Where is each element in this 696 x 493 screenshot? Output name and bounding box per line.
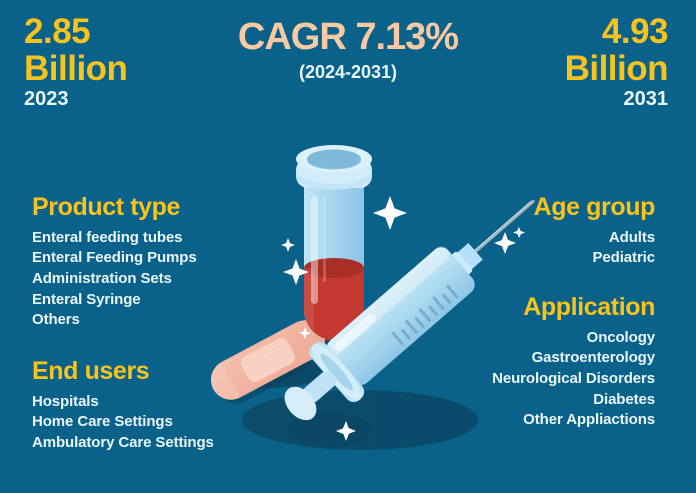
list-item: Pediatric — [534, 248, 655, 269]
infographic-root: 2.85 Billion 2023 4.93 Billion 2031 CAGR… — [0, 0, 696, 493]
list-item: Home Care Settings — [32, 412, 214, 433]
sparkle-icons — [281, 196, 525, 441]
cagr-period: (2024-2031) — [0, 62, 696, 83]
cagr-value: CAGR 7.13% — [0, 18, 696, 58]
application-list: Oncology Gastroenterology Neurological D… — [492, 328, 655, 431]
list-item: Enteral Feeding Pumps — [32, 248, 197, 269]
list-item: Administration Sets — [32, 269, 197, 290]
list-item: Oncology — [492, 328, 655, 349]
list-item: Diabetes — [492, 390, 655, 411]
end-users-list: Hospitals Home Care Settings Ambulatory … — [32, 392, 214, 454]
list-item: Hospitals — [32, 392, 214, 413]
stat-left-year: 2023 — [24, 87, 127, 112]
section-title-product-type: Product type — [32, 194, 197, 222]
list-item: Gastroenterology — [492, 348, 655, 369]
cagr-block: CAGR 7.13% (2024-2031) — [0, 18, 696, 83]
section-application: Application Oncology Gastroenterology Ne… — [492, 294, 655, 431]
section-product-type: Product type Enteral feeding tubes Enter… — [32, 194, 197, 331]
list-item: Neurological Disorders — [492, 369, 655, 390]
blood-vial-icon — [296, 145, 372, 358]
section-title-application: Application — [492, 294, 655, 322]
section-end-users: End users Hospitals Home Care Settings A… — [32, 358, 214, 454]
list-item: Adults — [534, 228, 655, 249]
list-item: Enteral Syringe — [32, 290, 197, 311]
stat-right-year: 2031 — [565, 87, 668, 112]
adhesive-bandage-icon — [204, 312, 338, 412]
list-item: Others — [32, 310, 197, 331]
section-title-end-users: End users — [32, 358, 214, 386]
object-shadows — [212, 356, 478, 450]
list-item: Ambulatory Care Settings — [32, 433, 214, 454]
product-type-list: Enteral feeding tubes Enteral Feeding Pu… — [32, 228, 197, 331]
list-item: Enteral feeding tubes — [32, 228, 197, 249]
list-item: Other Appliactions — [492, 410, 655, 431]
section-title-age-group: Age group — [534, 194, 655, 222]
age-group-list: Adults Pediatric — [534, 228, 655, 269]
section-age-group: Age group Adults Pediatric — [534, 194, 655, 269]
